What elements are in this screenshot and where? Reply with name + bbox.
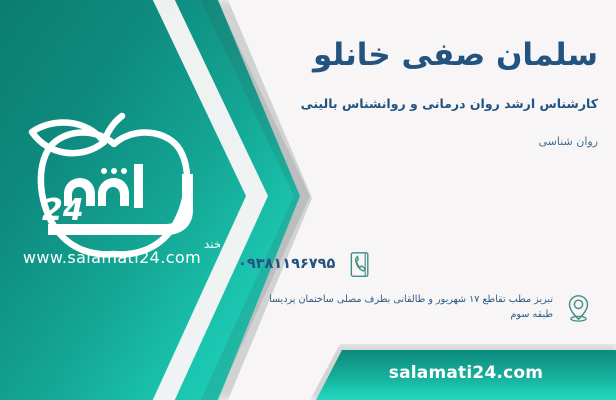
logo-24-text: 24 (42, 193, 84, 228)
person-field: روان شناسی (238, 135, 598, 148)
card-content: سلمان صفی خانلو کارشناس ارشد روان درمانی… (238, 0, 598, 400)
location-pin-icon (563, 290, 593, 324)
business-card: 24 برای یک لبخند www.salamati24.com سلما… (0, 0, 616, 400)
address-text[interactable]: تبریز مطب تقاطع ۱۷ شهریور و طالقانی بطرف… (253, 290, 553, 323)
phone-book-icon (345, 248, 375, 282)
phone-row: ۰۹۳۸۱۱۹۶۷۹۵ (238, 248, 598, 282)
logo-number-24: 24 (42, 193, 84, 228)
salamati-logo-mark: 24 برای یک لبخند (8, 108, 220, 268)
address-row: تبریز مطب تقاطع ۱۷ شهریور و طالقانی بطرف… (253, 290, 598, 324)
logo-website-url: www.salamati24.com (12, 248, 212, 267)
person-name: سلمان صفی خانلو (238, 38, 598, 72)
phone-number[interactable]: ۰۹۳۸۱۱۹۶۷۹۵ (238, 248, 335, 275)
person-title: کارشناس ارشد روان درمانی و روانشناس بالی… (238, 96, 598, 112)
brand-logo: 24 برای یک لبخند (8, 108, 220, 268)
